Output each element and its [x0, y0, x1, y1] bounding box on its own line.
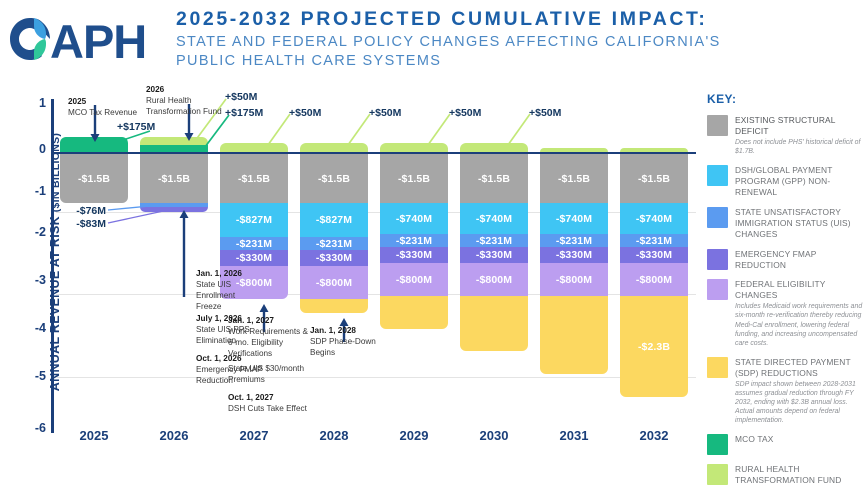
caph-logo: APH [10, 8, 170, 70]
y-tick-1: 1 [20, 96, 46, 110]
legend-item-federal-eligibility: FEDERAL ELIGIBILITY CHANGES Includes Med… [707, 279, 867, 347]
gain-label-2026-mco: +$175M [225, 107, 263, 119]
svg-text:APH: APH [50, 15, 146, 68]
bar-segment-dsh-gpp-2030: -$740M [460, 203, 528, 234]
legend-item-mco-tax: MCO TAX [707, 434, 867, 455]
legend-label-state-uis: STATE UNSATISFACTORY IMMIGRATION STATUS … [735, 207, 867, 240]
legend-swatch-dsh-gpp [707, 165, 728, 186]
bar-segment-sdp-2031 [540, 296, 608, 374]
callout-mco-2025-year: 2025 [68, 96, 158, 107]
delta-label-uis-enrollment: -$76M [48, 205, 106, 217]
bar-segment-fmap-2028: -$330M [300, 250, 368, 266]
note-2027-2: State UIS $30/month Premiums [228, 363, 312, 385]
bar-segment-federal-eligibility-2028: -$800M [300, 266, 368, 299]
note-2027-1-line3: Verifications [228, 348, 312, 359]
bar-segment-structural-deficit-2029: -$1.5B [380, 154, 448, 203]
page-title: 2025-2032 PROJECTED CUMULATIVE IMPACT: [176, 8, 716, 30]
legend: KEY: EXISTING STRUCTURAL DEFICIT Does no… [707, 92, 867, 486]
bar-segment-uis-2032: -$231M [620, 234, 688, 247]
legend-swatch-sdp-reductions [707, 357, 728, 378]
bar-segment-dsh-gpp-2029: -$740M [380, 203, 448, 234]
bar-segment-mco-tax-2026 [140, 145, 208, 152]
bar-segment-fmap-2030: -$330M [460, 247, 528, 263]
x-tick-2025: 2025 [54, 428, 134, 443]
note-2028-1-line1: SDP Phase-Down [310, 336, 390, 347]
legend-label-mco-tax: MCO TAX [735, 434, 867, 445]
bar-segment-dsh-gpp-2031: -$740M [540, 203, 608, 234]
legend-item-sdp-reductions: STATE DIRECTED PAYMENT (SDP) REDUCTIONS … [707, 357, 867, 425]
note-2027-2-line2: Premiums [228, 374, 312, 385]
gain-label-2028: +$50M [369, 107, 401, 119]
y-tick-m5: -5 [20, 369, 46, 383]
bar-segment-federal-eligibility-2029: -$800M [380, 263, 448, 296]
legend-label-structural-deficit: EXISTING STRUCTURAL DEFICIT [735, 115, 867, 137]
note-2027-2-line1: State UIS $30/month [228, 363, 312, 374]
bar-segment-dsh-gpp-2028: -$827M [300, 203, 368, 237]
gain-label-2027: +$50M [289, 107, 321, 119]
bar-segment-uis-2028: -$231M [300, 237, 368, 250]
legend-swatch-structural-deficit [707, 115, 728, 136]
note-2028-1-date: Jan. 1, 2028 [310, 325, 390, 336]
x-tick-2026: 2026 [134, 428, 214, 443]
bar-segment-fmap-2032: -$330M [620, 247, 688, 263]
y-tick-m3: -3 [20, 273, 46, 287]
bar-segment-rural-fund-2028 [300, 143, 368, 152]
note-2027-1-date: Jan. 1, 2027 [228, 315, 312, 326]
bar-segment-rural-fund-2030 [460, 143, 528, 152]
legend-item-dsh-gpp: DSH/GLOBAL PAYMENT PROGRAM (GPP) NON-REN… [707, 165, 867, 198]
bar-segment-uis-2027: -$231M [220, 237, 288, 250]
x-tick-2031: 2031 [534, 428, 614, 443]
y-tick-0: 0 [20, 142, 46, 156]
bar-segment-dsh-gpp-2027: -$827M [220, 203, 288, 237]
y-tick-m2: -2 [20, 225, 46, 239]
legend-title: KEY: [707, 92, 867, 106]
bar-segment-federal-eligibility-2030: -$800M [460, 263, 528, 296]
bar-segment-fmap-2031: -$330M [540, 247, 608, 263]
title-block: 2025-2032 PROJECTED CUMULATIVE IMPACT: S… [176, 8, 716, 71]
x-tick-2027: 2027 [214, 428, 294, 443]
legend-note-federal-eligibility: Includes Medicaid work requirements and … [735, 302, 867, 348]
note-2028-1-line2: Begins [310, 347, 390, 358]
note-2026-1: Jan. 1, 2026 State UIS Enrollment Freeze [196, 268, 272, 312]
legend-item-state-uis: STATE UNSATISFACTORY IMMIGRATION STATUS … [707, 207, 867, 240]
legend-label-sdp-reductions: STATE DIRECTED PAYMENT (SDP) REDUCTIONS [735, 357, 867, 379]
y-tick-m4: -4 [20, 321, 46, 335]
note-2027-1-line2: 6-mo. Eligibility [228, 337, 312, 348]
legend-note-sdp-reductions: SDP impact shown between 2028-2031 assum… [735, 380, 867, 426]
legend-item-structural-deficit: EXISTING STRUCTURAL DEFICIT Does not inc… [707, 115, 867, 156]
x-tick-2030: 2030 [454, 428, 534, 443]
note-2026-1-line1: State UIS Enrollment [196, 279, 272, 301]
bar-segment-fmap-2029: -$330M [380, 247, 448, 263]
y-axis-line [51, 99, 54, 433]
bar-segment-rural-fund-2027 [220, 143, 288, 152]
page-subtitle-line2: PUBLIC HEALTH CARE SYSTEMS [176, 52, 716, 71]
legend-item-rural-health-fund: RURAL HEALTH TRANSFORMATION FUND [707, 464, 867, 486]
note-2026-1-line2: Freeze [196, 301, 272, 312]
legend-swatch-mco-tax [707, 434, 728, 455]
bar-segment-structural-deficit-2028: -$1.5B [300, 154, 368, 203]
legend-label-emergency-fmap: EMERGENCY FMAP REDUCTION [735, 249, 867, 271]
legend-label-dsh-gpp: DSH/GLOBAL PAYMENT PROGRAM (GPP) NON-REN… [735, 165, 867, 198]
gain-label-2026-rural: +$50M [225, 91, 257, 103]
legend-label-rural-health-fund: RURAL HEALTH TRANSFORMATION FUND [735, 464, 867, 486]
legend-item-emergency-fmap: EMERGENCY FMAP REDUCTION [707, 249, 867, 271]
bar-segment-structural-deficit-2032: -$1.5B [620, 154, 688, 203]
note-2027-3-line1: DSH Cuts Take Effect [228, 403, 318, 414]
bar-segment-structural-deficit-2030: -$1.5B [460, 154, 528, 203]
gridline [56, 377, 696, 378]
x-tick-2029: 2029 [374, 428, 454, 443]
bar-segment-federal-eligibility-2032: -$800M [620, 263, 688, 296]
bar-segment-fmap-2027: -$330M [220, 250, 288, 266]
gain-label-2025: +$175M [117, 121, 155, 133]
bar-segment-sdp-2028 [300, 299, 368, 313]
note-2027-1-line1: Work Requirements & [228, 326, 312, 337]
bar-segment-rural-fund-2029 [380, 143, 448, 152]
bar-segment-dsh-gpp-2032: -$740M [620, 203, 688, 234]
page-subtitle-line1: STATE AND FEDERAL POLICY CHANGES AFFECTI… [176, 33, 716, 52]
legend-swatch-federal-eligibility [707, 279, 728, 300]
legend-label-federal-eligibility: FEDERAL ELIGIBILITY CHANGES [735, 279, 867, 301]
bar-segment-sdp-2032: -$2.3B [620, 296, 688, 397]
y-tick-m1: -1 [20, 184, 46, 198]
bar-segment-rural-fund-2031 [540, 148, 608, 152]
legend-note-structural-deficit: Does not include PHS' historical deficit… [735, 138, 867, 156]
bar-segment-uis-2031: -$231M [540, 234, 608, 247]
callout-mco-2025: 2025 MCO Tax Revenue [68, 96, 158, 118]
note-2027-3-date: Oct. 1, 2027 [228, 392, 318, 403]
legend-swatch-emergency-fmap [707, 249, 728, 270]
bar-segment-sdp-2030 [460, 296, 528, 351]
legend-swatch-rural-health-fund [707, 464, 728, 485]
bar-segment-rural-fund-2032 [620, 148, 688, 152]
infographic-root: APH 2025-2032 PROJECTED CUMULATIVE IMPAC… [0, 0, 868, 488]
x-tick-2032: 2032 [614, 428, 694, 443]
note-2028-1: Jan. 1, 2028 SDP Phase-Down Begins [310, 325, 390, 358]
x-tick-2028: 2028 [294, 428, 374, 443]
bar-segment-uis-2030: -$231M [460, 234, 528, 247]
delta-label-uis-pps: -$83M [48, 218, 106, 230]
callout-mco-2025-label: MCO Tax Revenue [68, 107, 158, 118]
bar-segment-mco-tax-2025 [60, 137, 128, 152]
bar-segment-federal-eligibility-2031: -$800M [540, 263, 608, 296]
note-2027-1: Jan. 1, 2027 Work Requirements & 6-mo. E… [228, 315, 312, 359]
bar-segment-fmap-2026 [140, 207, 208, 212]
bar-segment-uis-2029: -$231M [380, 234, 448, 247]
gain-label-2030: +$50M [529, 107, 561, 119]
bar-segment-sdp-2029 [380, 296, 448, 329]
bar-segment-structural-deficit-2031: -$1.5B [540, 154, 608, 203]
y-tick-m6: -6 [20, 421, 46, 435]
gain-label-2029: +$50M [449, 107, 481, 119]
bar-segment-rural-fund-2026 [140, 137, 208, 145]
note-2026-1-date: Jan. 1, 2026 [196, 268, 272, 279]
legend-swatch-state-uis [707, 207, 728, 228]
bar-segment-structural-deficit-2025: -$1.5B [60, 154, 128, 203]
bar-segment-structural-deficit-2027: -$1.5B [220, 154, 288, 203]
note-2027-3: Oct. 1, 2027 DSH Cuts Take Effect [228, 392, 318, 414]
bar-segment-structural-deficit-2026: -$1.5B [140, 154, 208, 203]
